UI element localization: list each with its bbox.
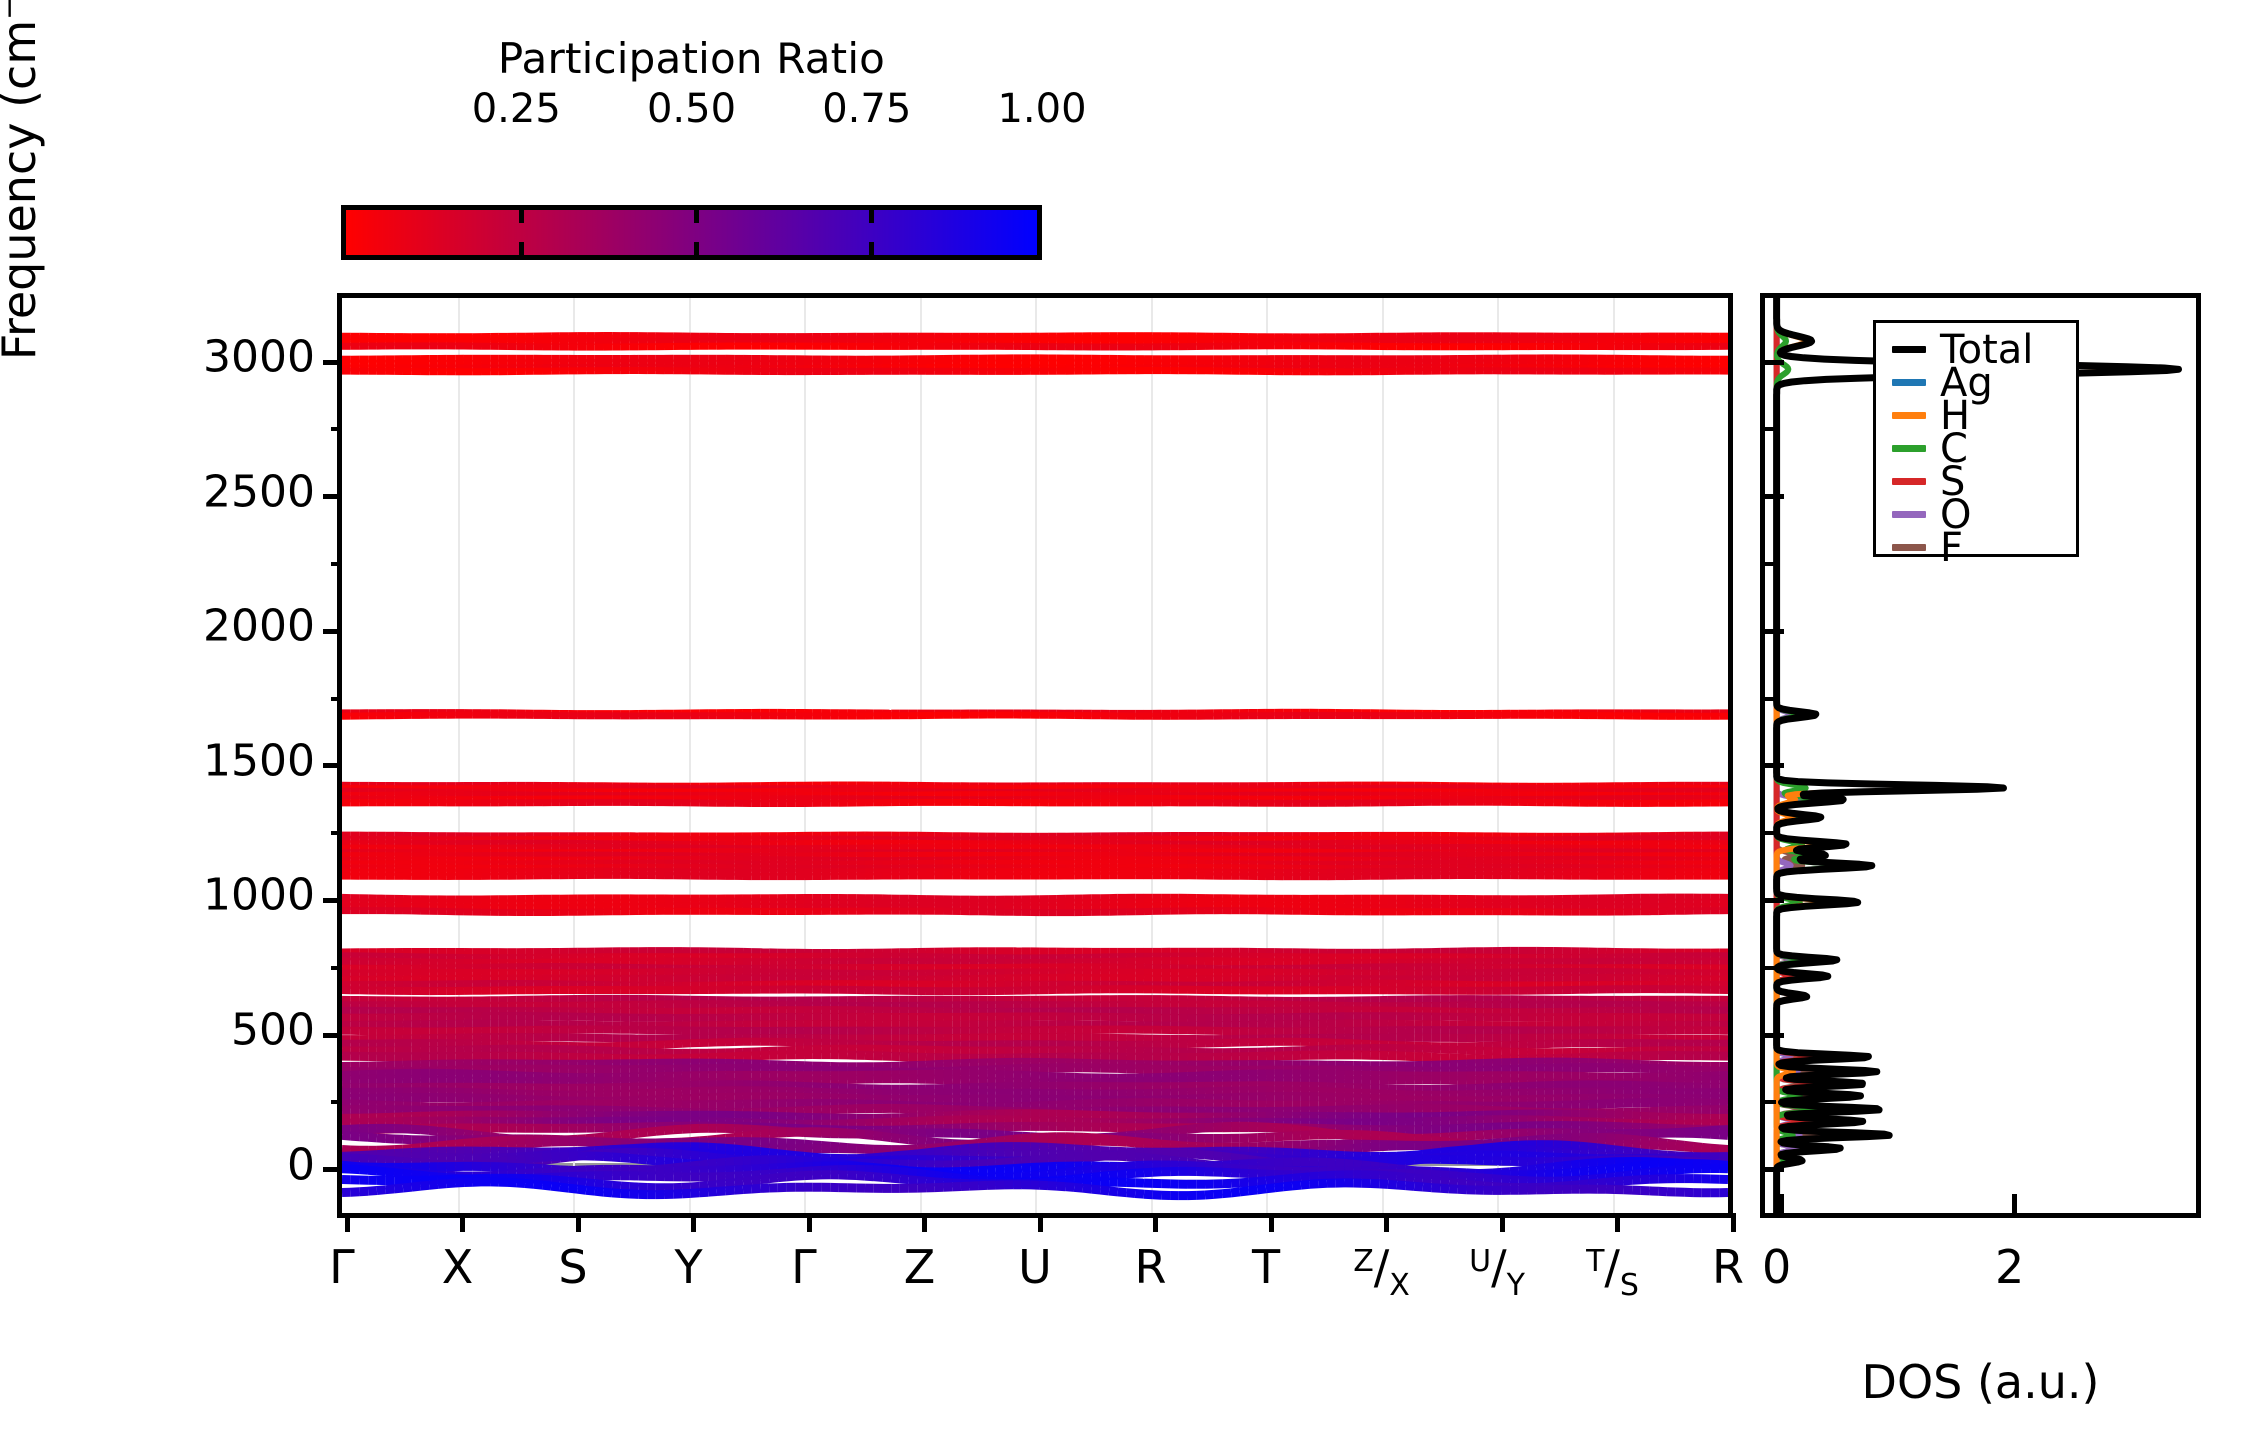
- dos-y-minor-tick: [1765, 1100, 1776, 1104]
- colorbar-tick-label: 1.00: [997, 86, 1086, 132]
- colorbar-tick-labels: 0.250.500.751.00: [341, 86, 1042, 132]
- band-y-tick: [323, 898, 342, 903]
- legend-swatch-c: [1892, 445, 1926, 452]
- band-y-minor-tick: [331, 831, 342, 835]
- phonon-band-structure-plot: [337, 293, 1733, 1218]
- dos-y-tick: [1765, 1033, 1784, 1038]
- band-x-tick: [1731, 1213, 1736, 1232]
- band-x-tick: [460, 1213, 465, 1232]
- band-y-axis-title: Frequency (cm−1): [0, 0, 46, 530]
- band-y-tick-label: 2500: [203, 466, 315, 517]
- band-x-tick: [1500, 1213, 1505, 1232]
- band-y-tick: [323, 1167, 342, 1172]
- band-x-tick-label: R: [1712, 1240, 1744, 1294]
- legend-item-s[interactable]: S: [1876, 465, 2076, 498]
- dos-legend: TotalAgHCSOF: [1873, 320, 2079, 557]
- band-x-tick: [1269, 1213, 1274, 1232]
- band-y-tick: [323, 360, 342, 365]
- band-x-tick-label: Γ: [329, 1240, 355, 1294]
- legend-swatch-o: [1892, 511, 1926, 518]
- dos-y-minor-tick: [1765, 697, 1776, 701]
- dos-x-tick: [2012, 1194, 2017, 1213]
- dos-y-minor-tick: [1765, 966, 1776, 970]
- dos-y-tick: [1765, 360, 1784, 365]
- legend-label: F: [1940, 528, 1963, 568]
- band-x-tick: [1384, 1213, 1389, 1232]
- band-x-tick: [345, 1213, 350, 1232]
- band-x-tick-labels: ΓXSYΓZURTZ/XU/YT/SR: [337, 1240, 1733, 1330]
- band-x-tick-label: X: [442, 1240, 474, 1294]
- band-x-tick: [807, 1213, 812, 1232]
- colorbar-tick-label: 0.75: [822, 86, 911, 132]
- band-y-tick: [323, 494, 342, 499]
- band-x-tick-label: S: [558, 1240, 587, 1294]
- dos-y-tick: [1765, 898, 1784, 903]
- colorbar-tick-label: 0.50: [647, 86, 736, 132]
- dos-x-tick-label: 0: [1762, 1240, 1791, 1294]
- legend-item-o[interactable]: O: [1876, 498, 2076, 531]
- band-x-tick: [1153, 1213, 1158, 1232]
- colorbar-tick: [869, 210, 874, 223]
- band-x-tick-label: Y: [674, 1240, 702, 1294]
- colorbar-tick-label: 0.25: [472, 86, 561, 132]
- colorbar-tick: [694, 210, 699, 223]
- band-y-minor-tick: [331, 427, 342, 431]
- legend-item-h[interactable]: H: [1876, 399, 2076, 432]
- band-x-tick: [576, 1213, 581, 1232]
- band-y-tick-label: 1500: [203, 735, 315, 786]
- dos-y-minor-tick: [1765, 562, 1776, 566]
- legend-swatch-total: [1892, 346, 1926, 353]
- band-y-tick-labels: 300025002000150010005000: [110, 293, 315, 1218]
- band-y-tick-label: 1000: [203, 870, 315, 921]
- dos-x-tick-labels: 02: [1760, 1240, 2201, 1300]
- band-x-tick: [691, 1213, 696, 1232]
- figure-canvas: Participation Ratio 0.250.500.751.00 300…: [0, 0, 2259, 1455]
- legend-item-c[interactable]: C: [1876, 432, 2076, 465]
- colorbar-gradient: [346, 210, 1037, 255]
- band-y-tick: [323, 763, 342, 768]
- dos-y-tick: [1765, 629, 1784, 634]
- band-x-tick: [1038, 1213, 1043, 1232]
- legend-swatch-f: [1892, 544, 1926, 551]
- legend-swatch-h: [1892, 412, 1926, 419]
- band-x-tick: [922, 1213, 927, 1232]
- band-y-tick-label: 0: [287, 1139, 315, 1190]
- legend-swatch-s: [1892, 478, 1926, 485]
- colorbar-title: Participation Ratio: [341, 34, 1042, 83]
- dos-y-tick: [1765, 1167, 1784, 1172]
- legend-item-f[interactable]: F: [1876, 531, 2076, 564]
- band-y-minor-tick: [331, 562, 342, 566]
- band-y-tick-label: 2000: [203, 601, 315, 652]
- band-x-tick-label: U: [1018, 1240, 1052, 1294]
- legend-item-ag[interactable]: Ag: [1876, 366, 2076, 399]
- colorbar-tick: [519, 242, 524, 255]
- band-y-minor-tick: [331, 697, 342, 701]
- band-y-tick: [323, 1033, 342, 1038]
- y-axis-title-text: Frequency (cm−1): [0, 0, 46, 360]
- legend-swatch-ag: [1892, 379, 1926, 386]
- band-x-tick-label: Γ: [791, 1240, 817, 1294]
- band-x-tick-label: T/S: [1586, 1240, 1639, 1294]
- dos-y-tick: [1765, 763, 1784, 768]
- dos-x-tick-label: 2: [1995, 1240, 2024, 1294]
- colorbar-tick: [694, 242, 699, 255]
- colorbar-tick: [869, 242, 874, 255]
- band-x-tick: [1615, 1213, 1620, 1232]
- dos-y-minor-tick: [1765, 831, 1776, 835]
- band-x-tick-label: T: [1252, 1240, 1280, 1294]
- dos-y-tick: [1765, 494, 1784, 499]
- band-x-tick-label: Z/X: [1353, 1240, 1410, 1294]
- band-x-tick-label: R: [1135, 1240, 1167, 1294]
- band-y-minor-tick: [331, 966, 342, 970]
- band-x-tick-label: Z: [904, 1240, 936, 1294]
- participation-ratio-colorbar: [341, 205, 1042, 260]
- dos-y-minor-tick: [1765, 427, 1776, 431]
- colorbar-tick: [519, 210, 524, 223]
- band-x-tick-label: U/Y: [1469, 1240, 1525, 1294]
- band-y-tick-label: 500: [231, 1005, 315, 1056]
- band-y-tick-label: 3000: [203, 332, 315, 383]
- dos-x-axis-title: DOS (a.u.): [1760, 1355, 2201, 1409]
- band-y-tick: [323, 629, 342, 634]
- band-curves: [342, 298, 1728, 1213]
- band-y-minor-tick: [331, 1100, 342, 1104]
- dos-x-tick: [1779, 1194, 1784, 1213]
- band-plot-area: [342, 298, 1728, 1213]
